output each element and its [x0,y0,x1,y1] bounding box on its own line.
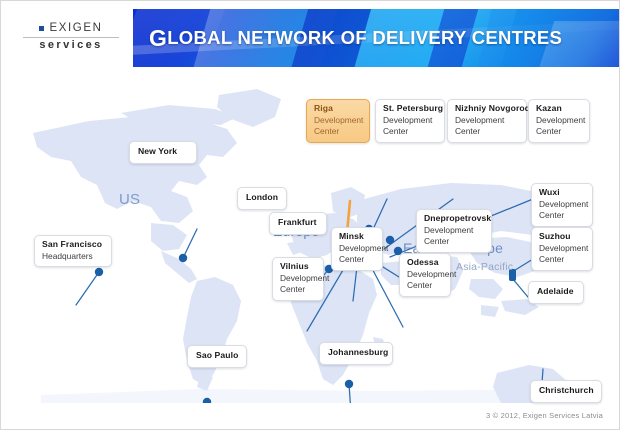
callout-city-role: Center [383,126,437,138]
callout-city-name: Riga [314,103,362,115]
callout-city-name: Sao Paulo [196,350,238,362]
callout-new-york[interactable]: New York [129,141,197,164]
callout-christchurch[interactable]: Christchurch [530,380,602,403]
callout-city-role: Center [536,126,582,138]
footer-copyright: 3 © 2012, Exigen Services Latvia [486,411,603,420]
callout-vilnius[interactable]: VilniusDevelopmentCenter [272,257,324,301]
callout-city-name: Christchurch [539,385,593,397]
callout-odessa[interactable]: OdessaDevelopmentCenter [399,253,451,297]
callout-sao-paulo[interactable]: Sao Paulo [187,345,247,368]
callout-city-role: Development [383,115,437,127]
callout-city-role: Development [407,269,443,281]
callout-adelaide[interactable]: Adelaide [528,281,584,304]
callout-minsk[interactable]: MinskDevelopmentCenter [331,227,383,271]
callout-city-role: Center [280,284,316,296]
square-logo-icon [39,24,46,31]
region-label-us: US [119,191,140,208]
callout-city-role: Development [280,273,316,285]
callout-kazan[interactable]: KazanDevelopmentCenter [528,99,590,143]
callout-riga[interactable]: RigaDevelopmentCenter [306,99,370,143]
callout-city-role: Center [539,254,585,266]
callout-city-role: Development [424,225,484,237]
slide-root: EXIGEN services GLOBAL NETWORK OF DELIVE… [0,0,620,430]
callout-city-role: Development [455,115,519,127]
page-title: GLOBAL NETWORK OF DELIVERY CENTRES [149,9,620,67]
callout-city-role: Development [339,243,375,255]
callout-city-name: Dnepropetrovsk [424,213,484,225]
callout-suzhou[interactable]: SuzhouDevelopmentCenter [531,227,593,271]
callout-city-role: Center [539,210,585,222]
callout-city-name: San Francisco [42,239,104,251]
callout-san-francisco[interactable]: San FranciscoHeadquarters [34,235,112,267]
title-banner: GLOBAL NETWORK OF DELIVERY CENTRES [133,9,620,67]
callout-city-role: Development [539,199,585,211]
callout-city-role: Center [339,254,375,266]
callout-nizhniy-novgorod[interactable]: Nizhniy NovgorodDevelopmentCenter [447,99,527,143]
logo-brand-tagline: services [23,37,119,51]
callout-city-name: Suzhou [539,231,585,243]
page-title-initial: G [149,25,167,52]
callout-city-name: Wuxi [539,187,585,199]
logo-wordmark-top: EXIGEN [23,23,119,35]
callout-city-role: Center [314,126,362,138]
callout-city-role: Center [407,280,443,292]
callout-city-name: Adelaide [537,286,575,298]
region-label-asia-pacific: Asia-Pacific [456,261,513,273]
callout-city-role: Development [539,243,585,255]
callout-city-role: Development [314,115,362,127]
callout-city-name: New York [138,146,188,158]
callout-johannesburg[interactable]: Johannesburg [319,342,393,365]
callout-wuxi[interactable]: WuxiDevelopmentCenter [531,183,593,227]
callout-city-name: Odessa [407,257,443,269]
callout-city-name: Frankfurt [278,217,318,229]
callout-city-name: St. Petersburg [383,103,437,115]
callout-city-role: Development [536,115,582,127]
callout-city-role: Headquarters [42,251,104,263]
page-title-rest: LOBAL NETWORK OF DELIVERY CENTRES [167,27,562,49]
callout-city-role: Center [424,236,484,248]
callout-frankfurt[interactable]: Frankfurt [269,212,327,235]
callout-city-role: Center [455,126,519,138]
callout-london[interactable]: London [237,187,287,210]
callout-st-petersburg[interactable]: St. PetersburgDevelopmentCenter [375,99,445,143]
callout-city-name: Minsk [339,231,375,243]
logo-brand-name: EXIGEN [49,23,102,35]
callout-city-name: Johannesburg [328,347,384,359]
callout-city-name: Vilnius [280,261,316,273]
callout-city-name: London [246,192,278,204]
exigen-logo: EXIGEN services [23,23,119,51]
callout-dnepropetrovsk[interactable]: DnepropetrovskDevelopmentCenter [416,209,492,253]
callout-city-name: Kazan [536,103,582,115]
callout-city-name: Nizhniy Novgorod [455,103,519,115]
